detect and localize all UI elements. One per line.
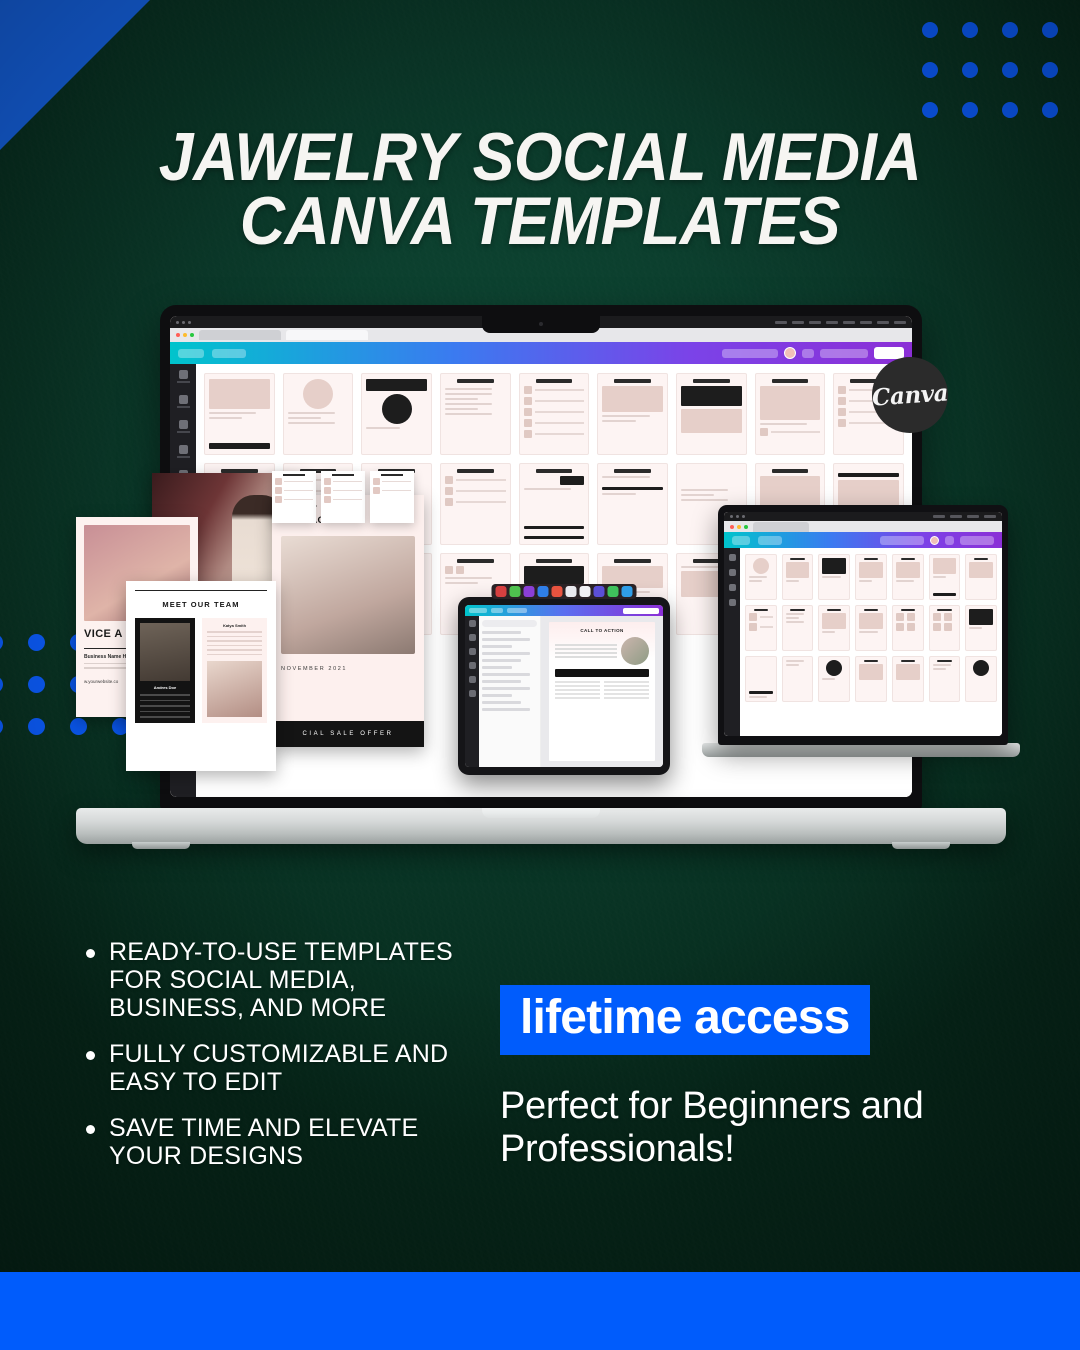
photo-placeholder (140, 623, 190, 681)
rail-text-icon[interactable] (725, 584, 740, 591)
rail-text-icon (469, 648, 476, 655)
laptop-foot (132, 842, 190, 849)
template-thumbnail[interactable] (745, 605, 777, 651)
browser-tab-active[interactable] (286, 330, 368, 340)
template-collage: VICE A NG GU Business Name H w.yourwebsi… (76, 473, 396, 773)
canva-logo-text: Canva (871, 379, 949, 411)
os-status-icons (775, 321, 906, 324)
window-controls-icon[interactable] (730, 525, 748, 529)
avatar[interactable] (784, 347, 796, 359)
template-thumbnail[interactable] (855, 605, 887, 651)
lifetime-access-badge: lifetime access (500, 985, 870, 1055)
list-item: READY-TO-USE TEMPLATES FOR SOCIAL MEDIA,… (86, 938, 486, 1022)
template-thumbnail[interactable] (892, 605, 924, 651)
template-thumbnail[interactable] (597, 463, 668, 545)
tablet-workspace: CALL TO ACTION (465, 616, 663, 767)
bullet-icon (86, 1051, 95, 1060)
secondary-laptop-screen (724, 512, 1002, 736)
collage-client-sheet: CLIENT BYE PACKET NOVEMBER 2021 CIAL SAL… (272, 495, 424, 747)
canva-help-icon[interactable] (802, 349, 814, 358)
canva-toolbar[interactable] (724, 532, 1002, 548)
feature-text: READY-TO-USE TEMPLATES FOR SOCIAL MEDIA,… (109, 938, 486, 1022)
tablet-screen: CALL TO ACTION (465, 605, 663, 767)
team-card-dark: Andres Doe (135, 618, 195, 723)
browser-tab-bar[interactable] (724, 521, 1002, 532)
canva-side-rail[interactable] (724, 548, 740, 736)
tablet-canvas[interactable]: CALL TO ACTION (541, 616, 663, 767)
dot (1042, 22, 1058, 38)
template-thumbnail[interactable] (929, 605, 961, 651)
dot (922, 62, 938, 78)
photo-placeholder (621, 637, 649, 665)
dot (0, 634, 3, 651)
bullet-icon (86, 1125, 95, 1134)
laptop-base-notch (482, 808, 600, 818)
os-apple-menu-icon (730, 515, 745, 518)
browser-tab[interactable] (199, 330, 281, 340)
rail-elements-icon[interactable] (176, 395, 191, 408)
canva-toolbar[interactable] (170, 342, 912, 364)
canva-logo-badge: Canva (872, 357, 948, 433)
rail-uploads-icon[interactable] (725, 599, 740, 606)
camera-notch-icon (482, 316, 600, 333)
bottom-accent-bar (0, 1272, 1080, 1350)
dot (922, 102, 938, 118)
title-line-1: JAWELRY SOCIAL MEDIA (43, 126, 1037, 190)
collage-team-sheet: MEET OUR TEAM Andres Doe Katya Smith (126, 581, 276, 771)
promo-block: lifetime access Perfect for Beginners an… (500, 985, 1000, 1170)
rail-design-icon[interactable] (176, 370, 191, 383)
rail-design-icon (469, 620, 476, 627)
template-thumbnail[interactable] (597, 373, 668, 455)
photo-placeholder (281, 536, 415, 654)
dot (1002, 62, 1018, 78)
template-thumbnail[interactable] (755, 373, 826, 455)
tablet-publish-button[interactable] (623, 608, 659, 614)
list-item: FULLY CUSTOMIZABLE AND EASY TO EDIT (86, 1040, 486, 1096)
os-menu-bar (724, 512, 1002, 521)
feature-list: READY-TO-USE TEMPLATES FOR SOCIAL MEDIA,… (86, 938, 486, 1188)
template-thumbnail[interactable] (855, 554, 887, 600)
tablet-canva-toolbar[interactable] (465, 605, 663, 616)
rail-elements-icon[interactable] (725, 569, 740, 576)
canva-workspace (724, 548, 1002, 736)
avatar[interactable] (930, 536, 939, 545)
mini-card (272, 471, 316, 523)
dot (1002, 22, 1018, 38)
template-thumbnail[interactable] (929, 656, 961, 702)
dot (0, 676, 3, 693)
template-thumbnail[interactable] (929, 554, 961, 600)
dot (962, 62, 978, 78)
team-member-2-name: Katya Smith (207, 623, 262, 628)
dot (1002, 102, 1018, 118)
os-apple-menu-icon (176, 321, 191, 324)
rail-text-icon[interactable] (176, 420, 191, 433)
tablet-device: CALL TO ACTION (458, 597, 670, 775)
feature-text: FULLY CUSTOMIZABLE AND EASY TO EDIT (109, 1040, 486, 1096)
template-thumbnail[interactable] (782, 656, 814, 702)
page-title: JAWELRY SOCIAL MEDIA CANVA TEMPLATES (0, 126, 1080, 254)
canva-project-name[interactable] (722, 349, 778, 358)
template-thumbnail[interactable] (965, 554, 997, 600)
template-thumbnail[interactable] (855, 656, 887, 702)
dot-grid-icon-top-right (922, 22, 1058, 118)
poster-canvas: JAWELRY SOCIAL MEDIA CANVA TEMPLATES (0, 0, 1080, 1350)
mini-card (370, 471, 414, 523)
template-thumbnail[interactable] (519, 373, 590, 455)
dot (962, 102, 978, 118)
template-thumbnail[interactable] (519, 463, 590, 545)
team-card-pink: Katya Smith (202, 618, 267, 723)
template-thumbnail[interactable] (361, 373, 432, 455)
tablet-document[interactable]: CALL TO ACTION (549, 622, 655, 761)
mini-card (321, 471, 365, 523)
template-thumbnail[interactable] (782, 554, 814, 600)
laptop-base (76, 808, 1006, 844)
tablet-panel[interactable] (479, 616, 541, 767)
template-thumbnail[interactable] (818, 605, 850, 651)
photo-placeholder (207, 661, 262, 717)
tablet-cta-button[interactable] (555, 669, 649, 677)
template-thumbnail[interactable] (892, 554, 924, 600)
canva-publish-button[interactable] (874, 347, 904, 359)
dot (922, 22, 938, 38)
template-thumbnail[interactable] (965, 656, 997, 702)
title-line-2: CANVA TEMPLATES (43, 190, 1037, 254)
tablet-doc-title: CALL TO ACTION (555, 628, 649, 633)
template-thumbnail[interactable] (676, 373, 747, 455)
collage-client-date: NOVEMBER 2021 (281, 666, 415, 672)
browser-tab[interactable] (753, 522, 809, 532)
collage-sale-ribbon: CIAL SALE OFFER (272, 721, 424, 747)
template-thumbnail[interactable] (892, 656, 924, 702)
dot (962, 22, 978, 38)
template-thumbnail[interactable] (283, 373, 354, 455)
rail-uploads-icon (469, 662, 476, 669)
os-status-icons (933, 515, 996, 518)
rail-uploads-icon[interactable] (176, 445, 191, 458)
secondary-laptop-device (718, 505, 1008, 745)
rail-projects-icon (469, 690, 476, 697)
collage-mini-cards (272, 471, 414, 523)
template-thumbnail[interactable] (204, 373, 275, 455)
tablet-side-rail[interactable] (465, 616, 479, 767)
template-thumbnail[interactable] (745, 656, 777, 702)
canva-share-button[interactable] (820, 349, 868, 358)
template-thumbnail[interactable] (745, 554, 777, 600)
macos-dock-icon (492, 584, 637, 599)
canva-file-menu[interactable] (178, 349, 204, 358)
secondary-laptop-base (702, 743, 1020, 757)
dot (28, 676, 45, 693)
laptop-foot (892, 842, 950, 849)
dot (28, 718, 45, 735)
window-controls-icon[interactable] (176, 333, 194, 337)
template-thumbnail[interactable] (782, 605, 814, 651)
template-thumbnail[interactable] (818, 656, 850, 702)
list-item: SAVE TIME AND ELEVATE YOUR DESIGNS (86, 1114, 486, 1170)
dot (0, 718, 3, 735)
promo-subtitle: Perfect for Beginners and Professionals! (500, 1085, 1000, 1170)
dot (28, 634, 45, 651)
canva-resize-button[interactable] (212, 349, 246, 358)
rail-elements-icon (469, 634, 476, 641)
template-grid-secondary[interactable] (740, 548, 1002, 736)
template-thumbnail[interactable] (440, 463, 511, 545)
team-member-1-name: Andres Doe (140, 685, 190, 690)
rail-design-icon[interactable] (725, 554, 740, 561)
dot (1042, 102, 1058, 118)
collage-team-title: MEET OUR TEAM (135, 600, 267, 609)
canva-app-window-secondary (724, 512, 1002, 736)
template-thumbnail[interactable] (440, 373, 511, 455)
feature-text: SAVE TIME AND ELEVATE YOUR DESIGNS (109, 1114, 486, 1170)
bullet-icon (86, 949, 95, 958)
dot (1042, 62, 1058, 78)
template-thumbnail[interactable] (965, 605, 997, 651)
device-mockup: VICE A NG GU Business Name H w.yourwebsi… (76, 305, 1006, 865)
divider (135, 590, 267, 591)
template-thumbnail[interactable] (818, 554, 850, 600)
search-input[interactable] (482, 620, 537, 627)
rail-draw-icon (469, 676, 476, 683)
